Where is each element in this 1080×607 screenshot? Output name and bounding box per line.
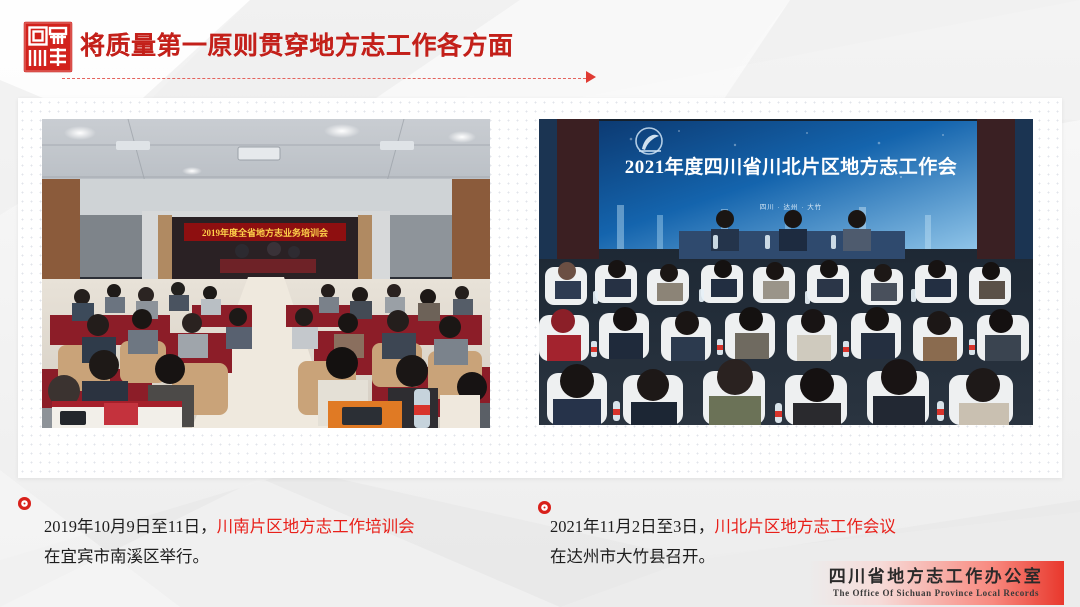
svg-text:四川 · 达州 · 大竹: 四川 · 达州 · 大竹 bbox=[760, 202, 823, 211]
page-title: 将质量第一原则贯穿地方志工作各方面 bbox=[80, 26, 514, 66]
photo-right[interactable]: 2021年度四川省川北片区地方志工作会 四川 · 达州 · 大竹 bbox=[539, 119, 1033, 425]
footer-logo-en: The Office Of Sichuan Province Local Rec… bbox=[833, 587, 1039, 599]
footer-logo: 四川省地方志工作办公室 The Office Of Sichuan Provin… bbox=[808, 561, 1064, 605]
photo-left[interactable]: 2019年度全省地方志业务培训会 bbox=[42, 119, 490, 428]
slide-header: 将质量第一原则贯穿地方志工作各方面 bbox=[0, 0, 1080, 96]
photo-card: 2019年度全省地方志业务培训会 bbox=[18, 98, 1062, 478]
arrow-right-triangle-icon bbox=[586, 71, 596, 83]
footer-logo-cn: 四川省地方志工作办公室 bbox=[829, 567, 1044, 587]
caption-right-line-1: 2021年11月2日至3日，川北片区地方志工作会议 bbox=[550, 512, 896, 542]
caption-left-line-2: 在宜宾市南溪区举行。 bbox=[44, 542, 415, 572]
caption-right-highlight: 川北片区地方志工作会议 bbox=[714, 517, 896, 536]
svg-text:2021年度四川省川北片区地方志工作会: 2021年度四川省川北片区地方志工作会 bbox=[625, 155, 958, 178]
seal-stamp-icon bbox=[24, 22, 72, 72]
red-ring-bullet-icon-left bbox=[18, 497, 31, 510]
caption-left-date: 2019年10月9日至11日， bbox=[44, 517, 217, 536]
caption-left: 2019年10月9日至11日，川南片区地方志工作培训会 在宜宾市南溪区举行。 bbox=[44, 512, 415, 572]
caption-right-date: 2021年11月2日至3日， bbox=[550, 517, 714, 536]
caption-left-highlight: 川南片区地方志工作培训会 bbox=[217, 517, 415, 536]
caption-left-line-1: 2019年10月9日至11日，川南片区地方志工作培训会 bbox=[44, 512, 415, 542]
svg-text:2019年度全省地方志业务培训会: 2019年度全省地方志业务培训会 bbox=[202, 227, 329, 238]
dashed-arrow-divider bbox=[62, 78, 586, 79]
slide-root: 将质量第一原则贯穿地方志工作各方面 bbox=[0, 0, 1080, 607]
